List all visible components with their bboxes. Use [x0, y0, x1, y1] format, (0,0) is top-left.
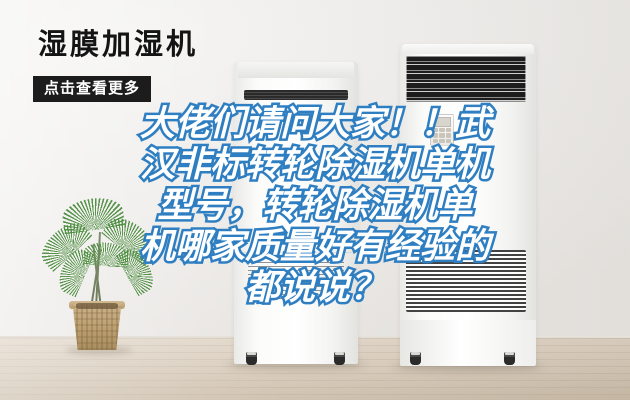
- headline-line: 机哪家质量好有经验的: [0, 226, 630, 267]
- caster-wheel: [246, 352, 257, 365]
- unit-top-cap: [238, 62, 354, 78]
- caster-wheel: [334, 352, 345, 365]
- woven-pot: [71, 304, 123, 350]
- headline-overlay: 大佬们请问大家！！武 汉非标转轮除湿机单机 型号，转轮除湿机单 机哪家质量好有经…: [0, 103, 630, 308]
- caster-wheel: [410, 352, 421, 365]
- headline-line: 汉非标转轮除湿机单机: [0, 144, 630, 185]
- headline-line: 型号，转轮除湿机单: [0, 185, 630, 226]
- promo-banner: 湿膜加湿机 点击查看更多 大佬们请问大家！！武 汉非标转轮除湿机单机 型号，转轮…: [0, 0, 630, 400]
- air-outlet-grille: [244, 90, 348, 100]
- caster-wheel: [504, 352, 515, 365]
- air-outlet-grille: [406, 56, 526, 102]
- page-title: 湿膜加湿机: [38, 31, 198, 60]
- headline-line: 大佬们请问大家！！武: [0, 103, 630, 144]
- view-more-button[interactable]: 点击查看更多: [33, 76, 151, 102]
- unit-top-cap: [402, 44, 534, 54]
- headline-line: 都说说？: [0, 267, 630, 308]
